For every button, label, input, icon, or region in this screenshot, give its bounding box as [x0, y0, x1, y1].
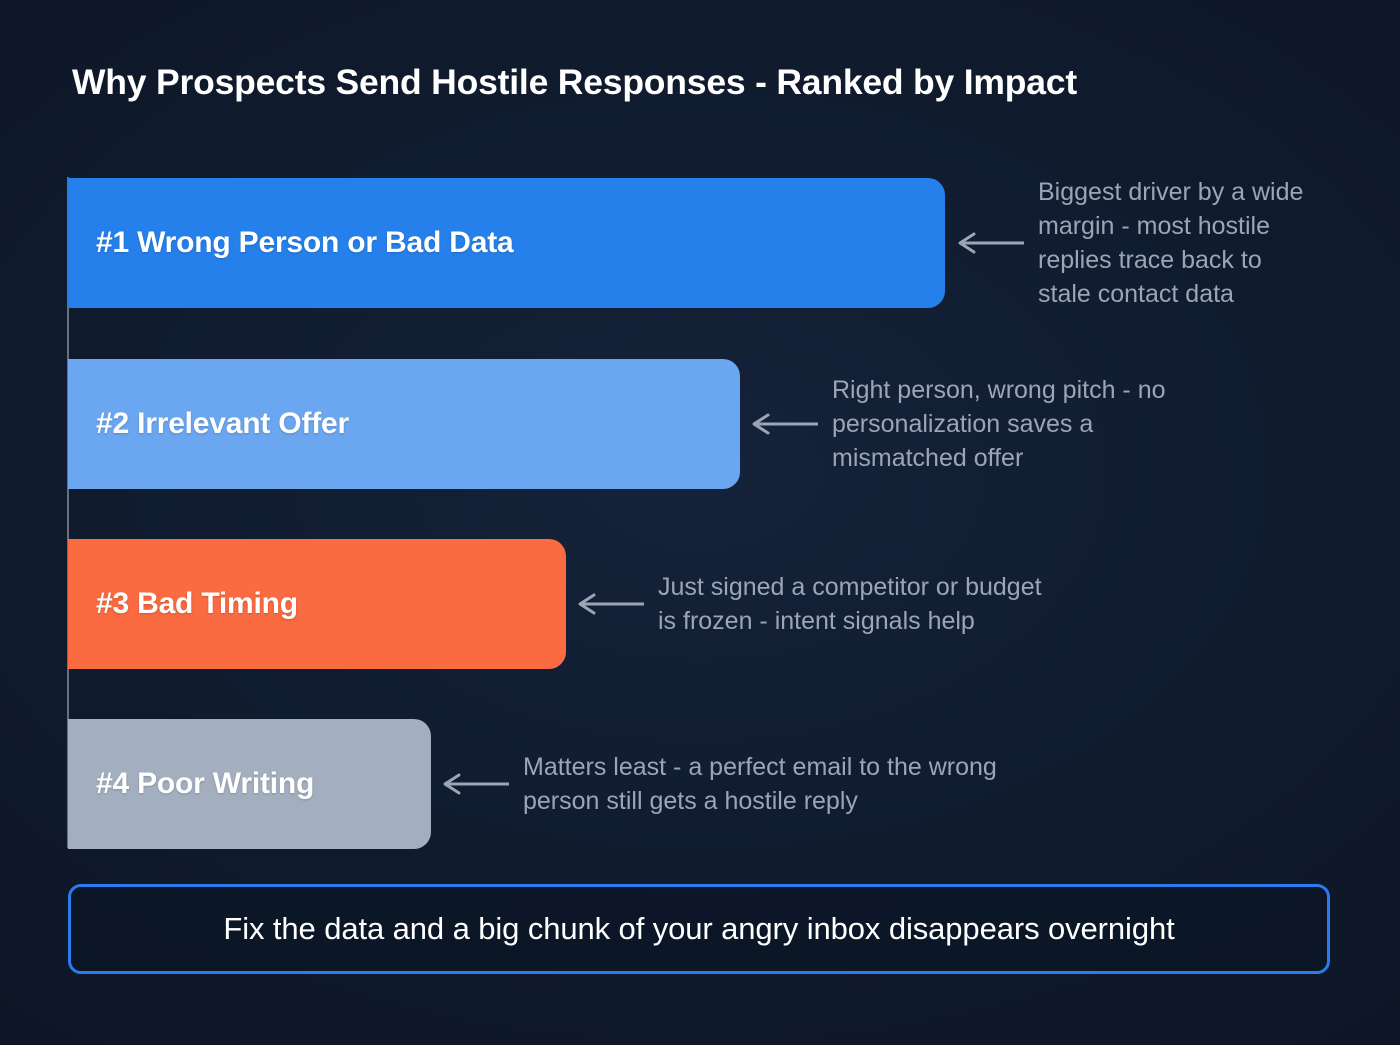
arrow-left-icon-1 [958, 232, 1024, 254]
bar-1[interactable]: #1 Wrong Person or Bad Data [68, 178, 945, 308]
bar-2[interactable]: #2 Irrelevant Offer [68, 359, 740, 489]
annotation-2-text: Right person, wrong pitch - no personali… [832, 373, 1166, 475]
annotation-2: Right person, wrong pitch - no personali… [752, 359, 1166, 489]
takeaway-callout-text: Fix the data and a big chunk of your ang… [223, 911, 1174, 947]
annotation-1: Biggest driver by a wide margin - most h… [958, 178, 1303, 308]
takeaway-callout: Fix the data and a big chunk of your ang… [68, 884, 1330, 974]
annotation-4-text: Matters least - a perfect email to the w… [523, 750, 997, 818]
annotation-1-text: Biggest driver by a wide margin - most h… [1038, 175, 1303, 311]
infographic-canvas: Why Prospects Send Hostile Responses - R… [0, 0, 1400, 1045]
bar-3[interactable]: #3 Bad Timing [68, 539, 566, 669]
arrow-left-icon-3 [578, 593, 644, 615]
bar-3-label: #3 Bad Timing [96, 587, 298, 621]
bar-4[interactable]: #4 Poor Writing [68, 719, 431, 849]
bar-4-label: #4 Poor Writing [96, 767, 314, 801]
arrow-left-icon-2 [752, 413, 818, 435]
annotation-3-text: Just signed a competitor or budget is fr… [658, 570, 1042, 638]
annotation-3: Just signed a competitor or budget is fr… [578, 539, 1042, 669]
bar-2-label: #2 Irrelevant Offer [96, 407, 349, 441]
arrow-left-icon-4 [443, 773, 509, 795]
annotation-4: Matters least - a perfect email to the w… [443, 719, 997, 849]
bar-1-label: #1 Wrong Person or Bad Data [96, 226, 513, 260]
